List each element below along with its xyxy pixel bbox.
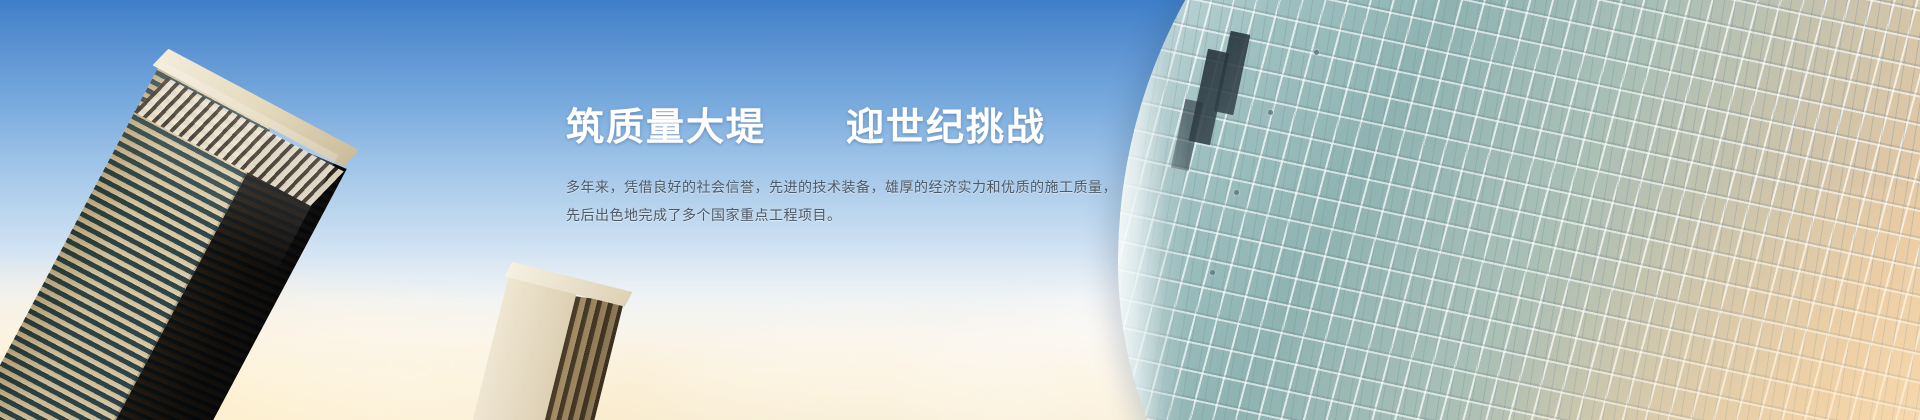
hero-banner: 筑质量大堤 迎世纪挑战 多年来，凭借良好的社会信誉，先进的技术装备，雄厚的经济实…: [0, 0, 1920, 420]
right-building-sun-glow: [1460, 187, 1920, 420]
banner-text-block: 筑质量大堤 迎世纪挑战 多年来，凭借良好的社会信誉，先进的技术装备，雄厚的经济实…: [566, 104, 1126, 230]
right-building-edge-highlight: [1118, 0, 1188, 420]
facade-fixture-dot: [1210, 270, 1215, 275]
facade-fixture-dot: [1268, 110, 1273, 115]
banner-subtitle-line-2: 先后出色地完成了多个国家重点工程项目。: [566, 202, 1126, 230]
facade-fixture-dot: [1314, 50, 1319, 55]
banner-subtitle: 多年来，凭借良好的社会信誉，先进的技术装备，雄厚的经济实力和优质的施工质量， 先…: [566, 174, 1126, 230]
right-curved-glass-building: [1118, 0, 1920, 420]
facade-fixture-dot: [1234, 190, 1239, 195]
banner-subtitle-line-1: 多年来，凭借良好的社会信誉，先进的技术装备，雄厚的经济实力和优质的施工质量，: [566, 174, 1126, 202]
banner-headline: 筑质量大堤 迎世纪挑战: [566, 104, 1126, 152]
